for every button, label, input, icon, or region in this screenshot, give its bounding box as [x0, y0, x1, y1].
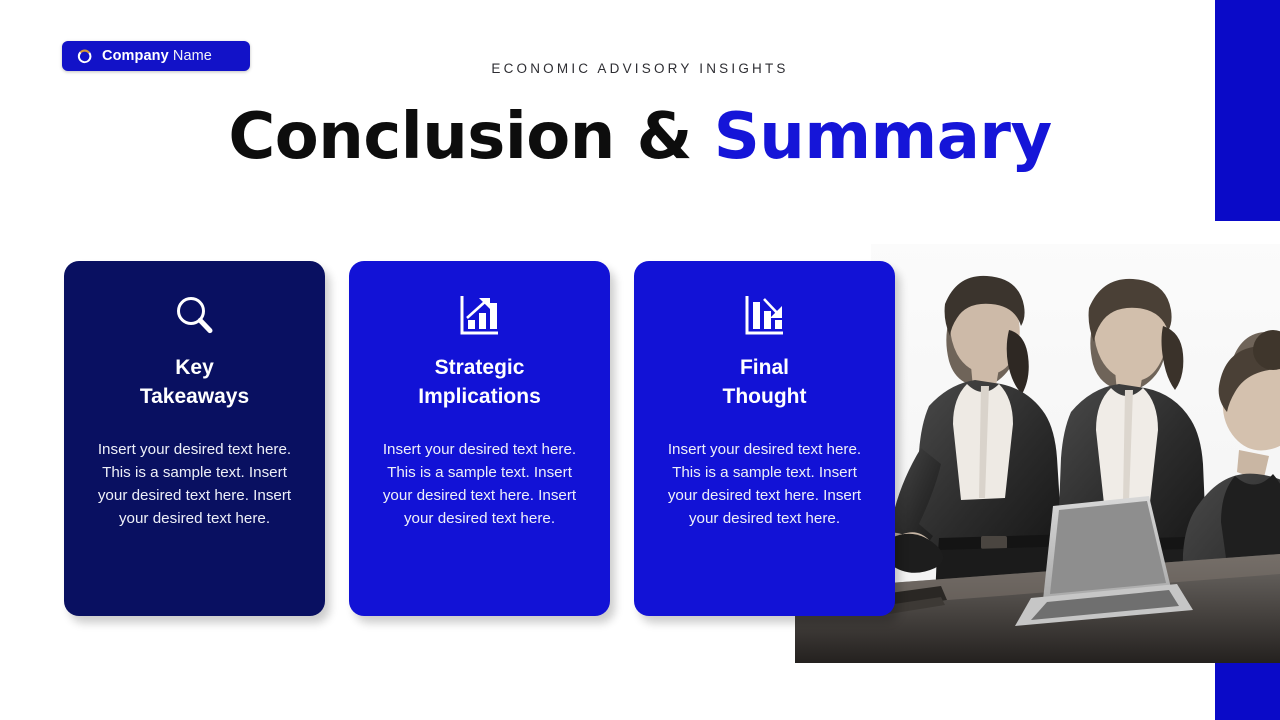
- card-title: Key Takeaways: [82, 354, 307, 412]
- eyebrow-label: ECONOMIC ADVISORY INSIGHTS: [0, 61, 1280, 76]
- blue-accent-bar-bottom: [1215, 663, 1280, 720]
- card-title: Strategic Implications: [367, 354, 592, 412]
- card-final-thought[interactable]: Final Thought Insert your desired text h…: [634, 261, 895, 616]
- page-title-part-1: Conclusion &: [228, 100, 713, 174]
- magnifier-icon: [82, 292, 307, 338]
- page-title-part-2: Summary: [714, 100, 1052, 174]
- bar-chart-decline-icon: [652, 292, 877, 338]
- bar-chart-growth-icon: [367, 292, 592, 338]
- page-title: Conclusion & Summary: [0, 104, 1280, 171]
- card-title: Final Thought: [652, 354, 877, 412]
- cards-row: Key Takeaways Insert your desired text h…: [64, 261, 895, 616]
- slide-canvas: Company Name ECONOMIC ADVISORY INSIGHTS …: [0, 0, 1280, 720]
- card-strategic-implications[interactable]: Strategic Implications Insert your desir…: [349, 261, 610, 616]
- card-key-takeaways[interactable]: Key Takeaways Insert your desired text h…: [64, 261, 325, 616]
- card-body-text: Insert your desired text here. This is a…: [82, 438, 307, 530]
- card-body-text: Insert your desired text here. This is a…: [367, 438, 592, 530]
- card-body-text: Insert your desired text here. This is a…: [652, 438, 877, 530]
